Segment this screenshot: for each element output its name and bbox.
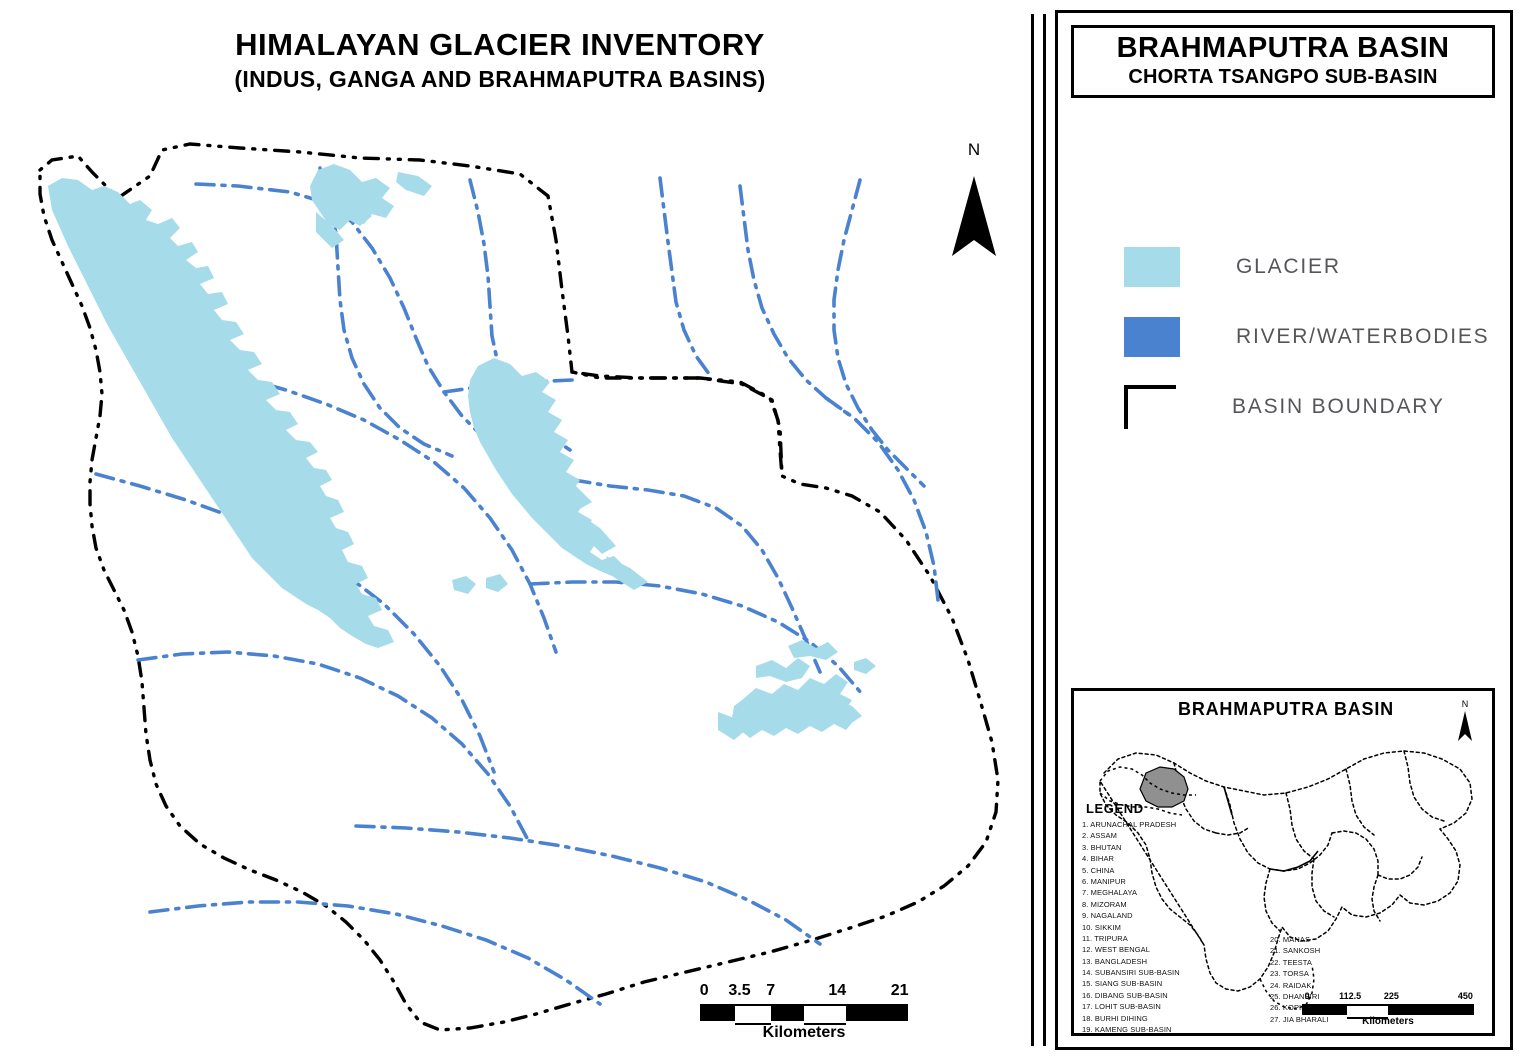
inset-legend-title: LEGEND — [1086, 801, 1144, 816]
inset-legend-item: 22. TEESTA — [1270, 957, 1420, 968]
legend-list: GLACIER RIVER/WATERBODIES BASIN BOUNDARY — [1124, 241, 1514, 451]
north-arrow-label: N — [938, 140, 1010, 160]
inset-legend-item: 21. SANKOSH — [1270, 945, 1420, 956]
scale-tick-3: 14 — [828, 982, 846, 1000]
inset-scale-tick-1: 112.5 — [1339, 991, 1361, 1001]
scale-bar-ticks: 0 3.5 7 14 21 — [700, 982, 908, 1004]
svg-text:N: N — [1462, 699, 1469, 709]
inset-scale-ticks: 0 112.5 225 450 — [1302, 991, 1474, 1004]
inset-legend-item: 7. MEGHALAYA — [1082, 887, 1342, 898]
map-canvas — [0, 0, 1030, 1059]
inset-legend-item: 24. RAIDAK — [1270, 980, 1420, 991]
inset-legend-item: 10. SIKKIM — [1082, 922, 1342, 933]
glacier-polygons — [48, 164, 876, 740]
north-arrow: N — [938, 140, 1010, 258]
panel-title-box: BRAHMAPUTRA BASIN CHORTA TSANGPO SUB-BAS… — [1071, 25, 1495, 98]
inset-scale-unit: Kilometers — [1302, 1016, 1474, 1027]
inset-legend-item: 20. MANAS — [1270, 934, 1420, 945]
inset-scale-tick-3: 450 — [1458, 991, 1473, 1001]
glacier-swatch-icon — [1124, 247, 1180, 287]
inset-scale-tick-0: 0 — [1305, 991, 1310, 1001]
inset-legend-item: 4. BIHAR — [1082, 853, 1342, 864]
scale-bar: 0 3.5 7 14 21 Kilometers — [700, 982, 908, 1042]
legend-label-glacier: GLACIER — [1236, 255, 1341, 279]
inset-legend-item: 3. BHUTAN — [1082, 842, 1342, 853]
inset-legend-item: 6. MANIPUR — [1082, 876, 1342, 887]
inset-north-arrow: N — [1452, 697, 1478, 745]
inset-legend-item: 2. ASSAM — [1082, 830, 1342, 841]
inset-legend-item: 5. CHINA — [1082, 865, 1342, 876]
inset-scale-tick-2: 225 — [1384, 991, 1399, 1001]
panel-subtitle: CHORTA TSANGPO SUB-BASIN — [1080, 66, 1486, 88]
legend-label-river: RIVER/WATERBODIES — [1236, 325, 1489, 349]
inset-legend-item: 9. NAGALAND — [1082, 910, 1342, 921]
main-map-area: HIMALAYAN GLACIER INVENTORY (INDUS, GANG… — [0, 0, 1030, 1059]
panel-divider-line-2 — [1043, 14, 1046, 1046]
inset-legend-item: 1. ARUNACHAL PRADESH — [1082, 819, 1342, 830]
river-swatch-icon — [1124, 317, 1180, 357]
inset-locator-map: BRAHMAPUTRA BASIN — [1071, 688, 1495, 1036]
boundary-symbol-icon — [1124, 385, 1176, 429]
scale-bar-graphic — [700, 1004, 908, 1021]
legend-item-glacier: GLACIER — [1124, 241, 1514, 293]
inset-scale-bar: 0 112.5 225 450 Kilometers — [1302, 991, 1474, 1027]
inset-highlighted-subbasin — [1140, 767, 1188, 807]
panel-title: BRAHMAPUTRA BASIN — [1080, 33, 1486, 64]
scale-tick-4: 21 — [891, 982, 909, 1000]
inset-legend-item: 23. TORSA — [1270, 968, 1420, 979]
inset-legend-item: 8. MIZORAM — [1082, 899, 1342, 910]
north-arrow-glyph — [938, 170, 1010, 266]
legend-label-boundary: BASIN BOUNDARY — [1232, 395, 1445, 419]
scale-tick-0: 0 — [700, 982, 709, 1000]
scale-tick-2: 7 — [766, 982, 775, 1000]
legend-panel: BRAHMAPUTRA BASIN CHORTA TSANGPO SUB-BAS… — [1055, 10, 1513, 1050]
map-page: HIMALAYAN GLACIER INVENTORY (INDUS, GANG… — [0, 0, 1526, 1059]
legend-item-river: RIVER/WATERBODIES — [1124, 311, 1514, 363]
inset-scale-graphic — [1302, 1004, 1474, 1015]
scale-bar-unit: Kilometers — [700, 1024, 908, 1042]
legend-item-boundary: BASIN BOUNDARY — [1124, 381, 1514, 433]
basin-boundary-inner — [572, 372, 782, 476]
scale-tick-1: 3.5 — [728, 982, 750, 1000]
panel-divider-line-1 — [1031, 14, 1034, 1046]
